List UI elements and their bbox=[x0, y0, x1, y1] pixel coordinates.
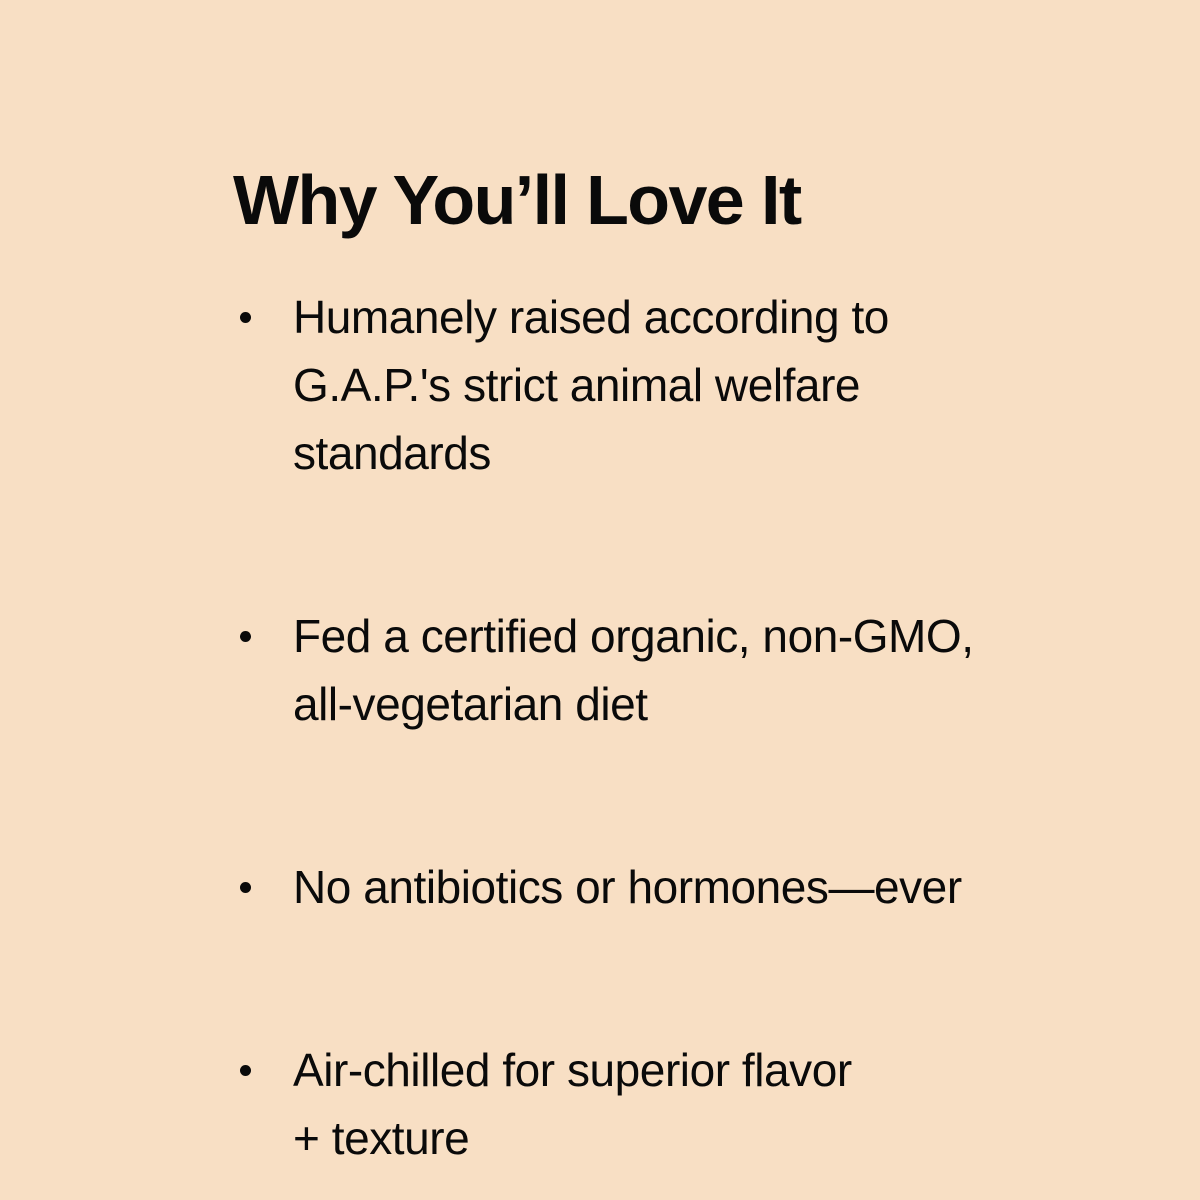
benefit-text: Humanely raised according to G.A.P.'s st… bbox=[293, 283, 1053, 487]
benefit-list: Humanely raised according to G.A.P.'s st… bbox=[233, 283, 1100, 1172]
page-title: Why You’ll Love It bbox=[233, 163, 1100, 237]
list-item: Humanely raised according to G.A.P.'s st… bbox=[233, 283, 1053, 487]
list-item: Fed a certified organic, non-GMO, all-ve… bbox=[233, 602, 993, 738]
bullet-dot-icon bbox=[240, 631, 251, 642]
why-youll-love-it-card: Why You’ll Love It Humanely raised accor… bbox=[0, 0, 1200, 1200]
list-item: Air-chilled for superior flavor + textur… bbox=[233, 1036, 873, 1172]
bullet-dot-icon bbox=[240, 312, 251, 323]
benefit-text: No antibiotics or hormones—ever bbox=[293, 853, 1100, 921]
bullet-dot-icon bbox=[240, 1065, 251, 1076]
bullet-dot-icon bbox=[240, 882, 251, 893]
list-item: No antibiotics or hormones—ever bbox=[233, 853, 1100, 921]
benefit-text: Air-chilled for superior flavor + textur… bbox=[293, 1036, 873, 1172]
benefit-text: Fed a certified organic, non-GMO, all-ve… bbox=[293, 602, 993, 738]
